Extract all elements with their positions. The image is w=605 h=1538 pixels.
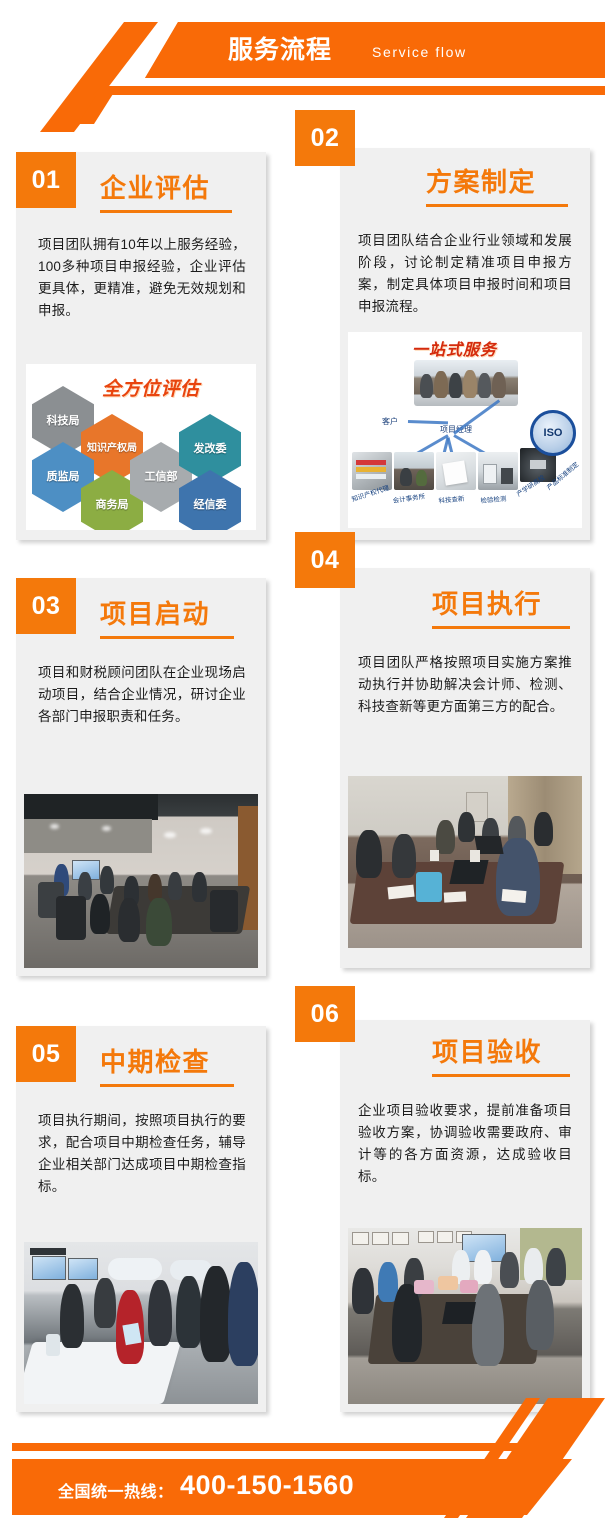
- hexagon-node-label: 商务局: [96, 499, 129, 512]
- service-flow-infographic: 服务流程 Service flow 企业评估 项目团队拥有10年以上服务经验，1…: [0, 0, 605, 1538]
- card-01-title: 企业评估: [100, 168, 210, 205]
- card-05-body: 项目执行期间，按照项目执行的要求，配合项目中期检查任务，辅导企业相关部门达成项目…: [38, 1110, 246, 1198]
- card-05-photo: [24, 1242, 258, 1404]
- card-06-body: 企业项目验收要求，提前准备项目验收方案，协调验收需要政府、审计等的各方面资源，达…: [358, 1100, 572, 1188]
- one-stop-leaf-photo: [478, 452, 518, 490]
- one-stop-service-diagram: 一站式服务 客户 项目经理: [348, 332, 582, 528]
- card-01-body: 项目团队拥有10年以上服务经验，100多种项目申报经验，企业评估更具体，更精准，…: [38, 234, 246, 322]
- card-01-title-rule: [100, 210, 232, 213]
- hexagon-assessment-diagram: 全方位评估 科技局 知识产权局 质监局 商务局 工信部 发改委 经信委: [26, 364, 256, 530]
- seal-label: ISO: [544, 427, 563, 439]
- hexagon-node-label: 科技局: [47, 415, 80, 428]
- one-stop-leaf-label: 检验检测: [480, 493, 507, 505]
- card-02-title-rule: [426, 204, 568, 207]
- hexagon-node-label: 经信委: [194, 499, 227, 512]
- one-stop-arrow: [408, 420, 448, 424]
- card-03-photo: [24, 794, 258, 968]
- card-05-title-rule: [100, 1084, 234, 1087]
- step-badge-03: 03: [16, 578, 76, 634]
- photo-scene: [348, 776, 582, 948]
- step-badge-01: 01: [16, 152, 76, 208]
- card-04-body: 项目团队严格按照项目实施方案推动执行并协助解决会计师、检测、科技查新等更方面第三…: [358, 652, 572, 718]
- card-04-photo: [348, 776, 582, 948]
- one-stop-node-customer: 客户: [382, 416, 398, 427]
- footer-top-stripe: [12, 1443, 572, 1451]
- card-05-title: 中期检查: [100, 1042, 210, 1079]
- photo-scene: [24, 1242, 258, 1404]
- step-card-05: 中期检查 项目执行期间，按照项目执行的要求，配合项目中期检查任务，辅导企业相关部…: [16, 1026, 266, 1412]
- hexagon-diagram-title: 全方位评估: [102, 374, 200, 401]
- step-badge-05: 05: [16, 1026, 76, 1082]
- card-04-title: 项目执行: [432, 584, 542, 621]
- step-card-04: 项目执行 项目团队严格按照项目实施方案推动执行并协助解决会计师、检测、科技查新等…: [340, 568, 590, 968]
- one-stop-leaf-photo: [436, 452, 476, 490]
- step-card-01: 企业评估 项目团队拥有10年以上服务经验，100多种项目申报经验，企业评估更具体…: [16, 152, 266, 540]
- hotline-label: 全国统一热线：: [58, 1478, 174, 1502]
- step-card-06: 项目验收 企业项目验收要求，提前准备项目验收方案，协调验收需要政府、审计等的各方…: [340, 1020, 590, 1412]
- card-03-title: 项目启动: [100, 594, 210, 631]
- card-02-title: 方案制定: [426, 162, 536, 199]
- one-stop-leaf-photo: [394, 452, 434, 490]
- photo-scene: [24, 794, 258, 968]
- header-underline-stripe: [88, 86, 605, 95]
- step-card-03: 项目启动 项目和财税顾问团队在企业现场启动项目，结合企业情况，研讨企业各部门申报…: [16, 578, 266, 976]
- step-badge-06: 06: [295, 986, 355, 1042]
- one-stop-service-title: 一站式服务: [412, 336, 497, 360]
- step-card-02: 方案制定 项目团队结合企业行业领域和发展阶段，讨论制定精准项目申报方案，制定具体…: [340, 148, 590, 540]
- hexagon-node-label: 质监局: [47, 471, 80, 484]
- page-title: 服务流程: [228, 32, 332, 68]
- hexagon-node-label: 工信部: [145, 471, 178, 484]
- hotline-number[interactable]: 400-150-1560: [180, 1470, 354, 1501]
- step-badge-04: 04: [295, 532, 355, 588]
- card-04-title-rule: [432, 626, 570, 629]
- one-stop-certification-seal: ISO: [530, 410, 576, 456]
- card-06-title-rule: [432, 1074, 570, 1077]
- card-02-body: 项目团队结合企业行业领域和发展阶段，讨论制定精准项目申报方案，制定具体项目申报时…: [358, 230, 572, 318]
- one-stop-leaf-label: 科技查新: [438, 493, 465, 505]
- header-diagonal-shape: [40, 22, 160, 132]
- page-subtitle: Service flow: [372, 42, 467, 62]
- step-badge-02: 02: [295, 110, 355, 166]
- card-03-title-rule: [100, 636, 234, 639]
- one-stop-leaf-label: 会计事务所: [392, 490, 426, 504]
- photo-scene: [348, 1228, 582, 1404]
- card-03-body: 项目和财税顾问团队在企业现场启动项目，结合企业情况，研讨企业各部门申报职责和任务…: [38, 662, 246, 728]
- hexagon-node-label: 发改委: [194, 443, 227, 456]
- hexagon-node-label: 知识产权局: [87, 443, 137, 455]
- header-banner: 服务流程 Service flow: [0, 0, 605, 108]
- one-stop-center-photo: [414, 360, 518, 406]
- card-06-title: 项目验收: [432, 1032, 542, 1069]
- card-06-photo: [348, 1228, 582, 1404]
